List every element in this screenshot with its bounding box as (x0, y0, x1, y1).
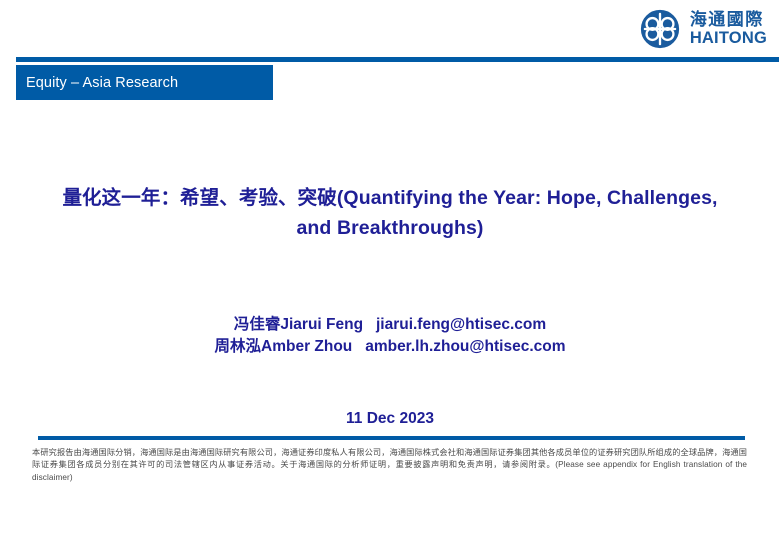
haitong-circular-emblem-icon (639, 8, 681, 50)
logo-english-name: HAITONG (690, 30, 767, 47)
publication-date: 11 Dec 2023 (60, 410, 720, 428)
author-row: 周林泓Amber Zhou amber.lh.zhou@htisec.com (60, 336, 720, 358)
disclaimer-text: 本研究报告由海通国际分销，海通国际是由海通国际研究有限公司，海通证券印度私人有限… (32, 447, 747, 484)
disclaimer-paragraph: 本研究报告由海通国际分销，海通国际是由海通国际研究有限公司，海通证券印度私人有限… (32, 447, 747, 484)
logo-chinese-name: 海通國際 (690, 11, 767, 28)
author-row: 冯佳睿Jiarui Feng jiarui.feng@htisec.com (60, 314, 720, 336)
author-list: 冯佳睿Jiarui Feng jiarui.feng@htisec.com 周林… (60, 314, 720, 359)
logo-wordmark: 海通國際 HAITONG (690, 11, 767, 47)
page-title: 量化这一年：希望、考验、突破(Quantifying the Year: Hop… (60, 183, 720, 243)
section-banner-label: Equity – Asia Research (26, 75, 178, 91)
disclaimer-divider-rule (38, 436, 745, 440)
section-banner: Equity – Asia Research (16, 65, 273, 100)
haitong-logo: 海通國際 HAITONG (639, 8, 767, 50)
header-divider-rule (16, 57, 779, 62)
